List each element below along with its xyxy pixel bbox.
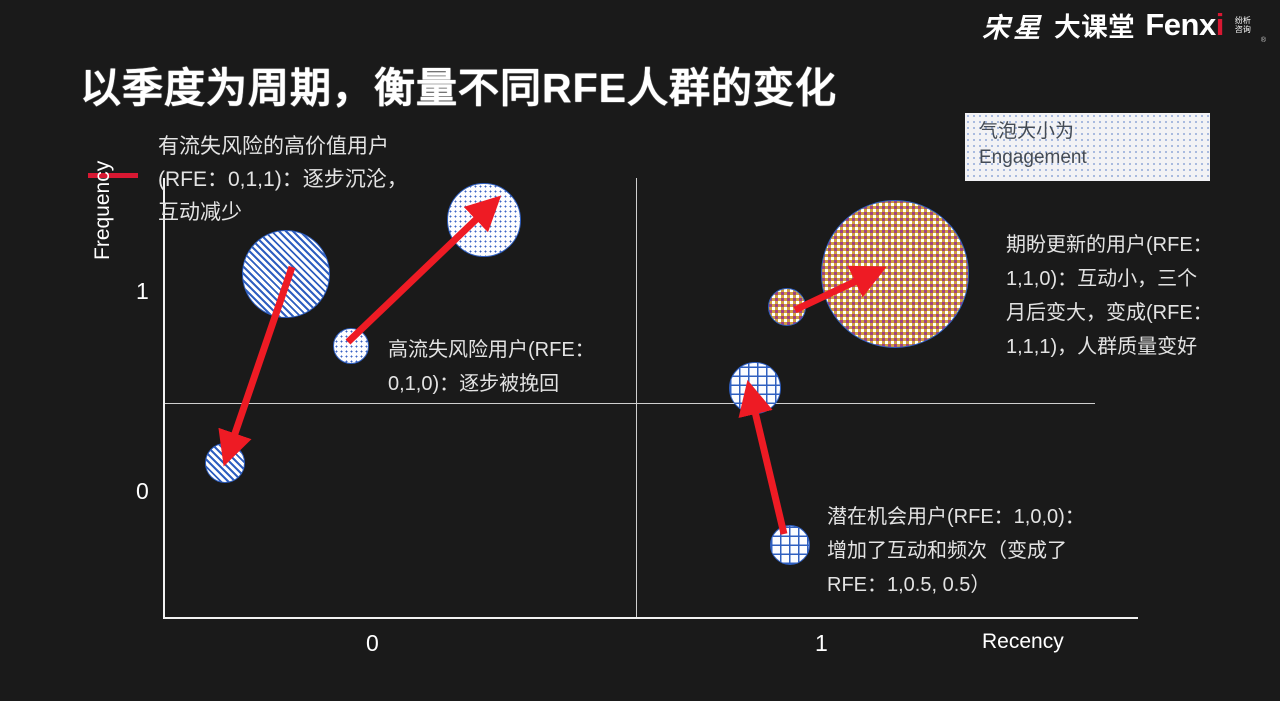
brand-bold-text: 大课堂 — [1054, 7, 1135, 44]
brand-wordmark-i: i — [1216, 7, 1224, 42]
bubble-rfe-100-end — [729, 362, 781, 414]
y-axis-line — [163, 178, 165, 618]
slide-canvas: 宋星 大课堂 Fenxi 纷析 咨询 ® 以季度为周期，衡量不同RFE人群的变化… — [0, 0, 1280, 701]
annotation-right: 期盼更新的用户(RFE： 1,1,0)：互动小，三个 月后变大，变成(RFE： … — [1006, 228, 1276, 364]
annotation-middle: 高流失风险用户(RFE： 0,1,0)：逐步被挽回 — [388, 333, 638, 401]
x-axis-label: Recency — [982, 630, 1064, 654]
brand-wordmark: Fenxi — [1145, 7, 1223, 43]
x-axis-line — [163, 617, 1138, 619]
bubble-size-legend: 气泡大小为 Engagement — [965, 113, 1210, 181]
brand-wordmark-main: Fenx — [1145, 7, 1215, 42]
brand-seal-text: 宋星 — [982, 6, 1044, 45]
annotation-bottom-right: 潜在机会用户(RFE：1,0,0)： 增加了互动和频次（变成了 RFE：1,0.… — [827, 500, 1137, 602]
brand-subtext-line2: 咨询 — [1235, 25, 1251, 34]
brand-subtext-line1: 纷析 — [1235, 16, 1251, 25]
quadrant-line-horizontal — [163, 403, 1095, 404]
bubble-rfe-110-end — [821, 200, 969, 348]
annotation-top-left: 有流失风险的高价值用户 (RFE：0,1,1)：逐步沉沦， 互动减少 — [158, 130, 458, 229]
legend-line-1: 气泡大小为 — [979, 119, 1210, 145]
legend-line-2: Engagement — [979, 145, 1210, 171]
bubble-rfe-011-start — [242, 230, 330, 318]
bubble-rfe-010-start — [333, 328, 369, 364]
x-tick-1: 1 — [815, 630, 828, 657]
bubble-rfe-010-end — [447, 183, 521, 257]
x-tick-0: 0 — [366, 630, 379, 657]
bubble-rfe-011-end — [205, 443, 245, 483]
bubble-rfe-100-start — [770, 525, 810, 565]
arrow-100 — [752, 399, 784, 534]
y-tick-1: 1 — [136, 278, 149, 305]
y-axis-label: Frequency — [91, 161, 115, 260]
brand-registered-mark: ® — [1261, 37, 1266, 44]
y-tick-0: 0 — [136, 478, 149, 505]
page-title: 以季度为周期，衡量不同RFE人群的变化 — [80, 54, 837, 114]
brand-subtext: 纷析 咨询 — [1235, 16, 1251, 34]
bubble-rfe-110-start — [768, 288, 806, 326]
brand-logo: 宋星 大课堂 Fenxi 纷析 咨询 ® — [982, 4, 1266, 46]
